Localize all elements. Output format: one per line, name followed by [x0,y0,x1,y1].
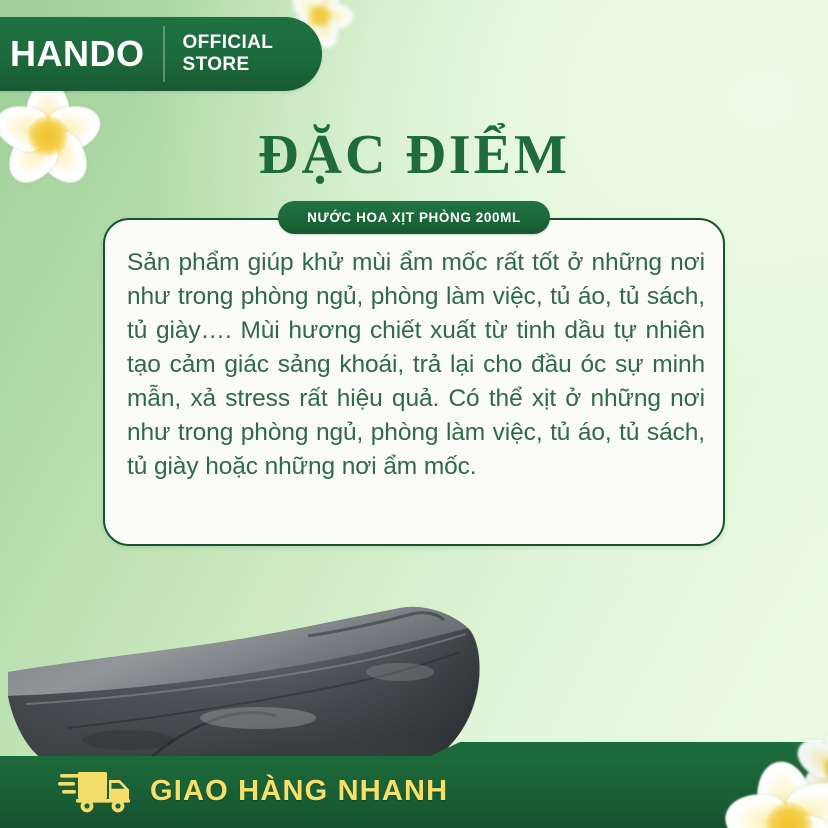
page-title: ĐẶC ĐIỂM [0,124,828,187]
brand-name: HANDO [10,36,145,72]
shipping-banner-content: GIAO HÀNG NHANH [58,768,448,814]
brand-subtitle-line-1: OFFICIAL [183,32,274,54]
product-detail-poster: HANDO OFFICIAL STORE ĐẶC ĐIỂM NƯỚC HOA X… [0,0,828,828]
delivery-truck-icon [58,768,134,814]
product-name-badge: NƯỚC HOA XỊT PHÒNG 200ML [278,201,550,234]
shipping-label: GIAO HÀNG NHANH [150,775,448,808]
product-name-badge-label: NƯỚC HOA XỊT PHÒNG 200ML [307,210,521,225]
brand-divider [163,26,165,82]
description-text: Sản phẩm giúp khử mùi ẩm mốc rất tốt ở n… [127,246,705,484]
brand-subtitle-line-2: STORE [183,54,274,76]
description-card: Sản phẩm giúp khử mùi ẩm mốc rất tốt ở n… [103,218,725,546]
stone-slab-photo [8,600,488,778]
brand-subtitle: OFFICIAL STORE [183,32,274,76]
brand-header-pill: HANDO OFFICIAL STORE [0,17,322,91]
